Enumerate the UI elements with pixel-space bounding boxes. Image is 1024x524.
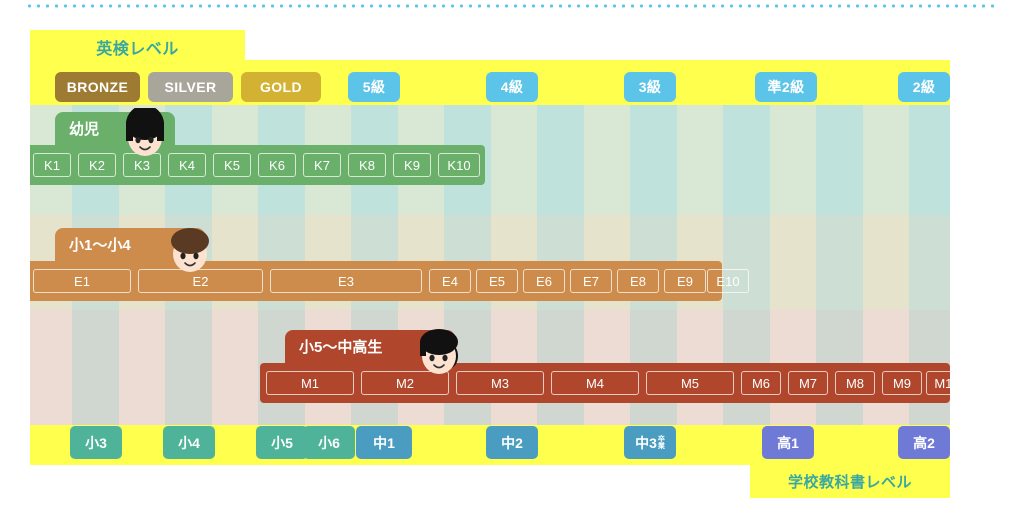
top-dotted-divider [25, 4, 1000, 8]
course-cell-label: M9 [893, 376, 911, 391]
eiken-pill-label: 5級 [363, 77, 386, 97]
course-cell-label: E8 [630, 274, 646, 289]
course-cell-middle-5[interactable]: M6 [741, 371, 781, 395]
course-cell-middle-8[interactable]: M9 [882, 371, 922, 395]
course-cell-label: M5 [681, 376, 699, 391]
course-cell-kinder-8[interactable]: K9 [393, 153, 431, 177]
course-cell-label: K5 [224, 158, 240, 173]
stripe-column [119, 310, 165, 425]
eiken-pill-label: 2級 [913, 77, 936, 97]
course-cell-label: E1 [74, 274, 90, 289]
eiken-pill-label: BRONZE [67, 79, 129, 95]
eiken-pill-1[interactable]: SILVER [148, 72, 233, 102]
course-cell-elementary-0[interactable]: E1 [33, 269, 131, 293]
course-cell-kinder-1[interactable]: K2 [78, 153, 116, 177]
course-cell-elementary-8[interactable]: E9 [664, 269, 706, 293]
course-cell-kinder-0[interactable]: K1 [33, 153, 71, 177]
eiken-pill-label: 3級 [639, 77, 662, 97]
course-cell-label: K1 [44, 158, 60, 173]
stripe-column [630, 105, 677, 215]
stripe-column [72, 310, 119, 425]
course-cell-label: K2 [89, 158, 105, 173]
school-grade-label: 中1 [373, 433, 395, 453]
course-cell-label: K7 [314, 158, 330, 173]
stripe-column [770, 105, 816, 215]
stripe-column [816, 105, 863, 215]
school-grade-pill-6[interactable]: 中3卒業 [624, 426, 676, 459]
course-tab-label: 小5〜中高生 [299, 336, 382, 357]
school-grade-label: 小4 [178, 433, 200, 453]
school-grade-label: 中2 [501, 433, 523, 453]
course-cell-middle-4[interactable]: M5 [646, 371, 734, 395]
course-cell-label: M3 [491, 376, 509, 391]
girl-ponytail-face [412, 326, 466, 378]
course-cell-label: M1 [301, 376, 319, 391]
course-cell-label: E5 [489, 274, 505, 289]
school-grade-pill-4[interactable]: 中1 [356, 426, 412, 459]
eiken-pill-0[interactable]: BRONZE [55, 72, 140, 102]
stripe-column [537, 105, 584, 215]
stripe-column [491, 105, 537, 215]
course-cell-elementary-3[interactable]: E4 [429, 269, 471, 293]
stripe-column [212, 310, 258, 425]
stripe-column [30, 310, 72, 425]
course-cell-middle-0[interactable]: M1 [266, 371, 354, 395]
course-cell-label: K9 [404, 158, 420, 173]
course-cell-kinder-9[interactable]: K10 [438, 153, 480, 177]
eiken-pill-5[interactable]: 3級 [624, 72, 676, 102]
course-cell-label: K8 [359, 158, 375, 173]
course-cell-middle-9[interactable]: M10 [926, 371, 968, 395]
stripe-column [770, 215, 816, 310]
course-cell-label: M10 [934, 376, 959, 391]
stripe-column [723, 105, 770, 215]
eiken-pill-4[interactable]: 4級 [486, 72, 538, 102]
course-cell-label: M8 [846, 376, 864, 391]
course-bar-kinder: K1K2K3K4K5K6K7K8K9K10 [30, 145, 485, 185]
eiken-pill-label: 準2級 [768, 77, 805, 97]
course-cell-kinder-6[interactable]: K7 [303, 153, 341, 177]
course-bar-middle: M1M2M3M4M5M6M7M8M9M10 [260, 363, 950, 403]
course-cell-middle-3[interactable]: M4 [551, 371, 639, 395]
course-cell-label: E3 [338, 274, 354, 289]
eiken-pill-label: 4級 [501, 77, 524, 97]
course-tab-label: 小1〜小4 [69, 234, 131, 255]
course-cell-elementary-9[interactable]: E10 [707, 269, 749, 293]
boy-short-hair-face [163, 224, 217, 276]
school-grade-label: 小6 [318, 433, 340, 453]
course-cell-label: K6 [269, 158, 285, 173]
school-grade-pill-1[interactable]: 小4 [163, 426, 215, 459]
stripe-column [816, 215, 863, 310]
course-cell-label: E9 [677, 274, 693, 289]
school-grade-pill-3[interactable]: 小6 [303, 426, 355, 459]
school-grade-label: 小3 [85, 433, 107, 453]
stripe-column [909, 105, 950, 215]
school-grade-label: 高2 [913, 433, 935, 453]
eiken-pill-7[interactable]: 2級 [898, 72, 950, 102]
school-grade-pill-0[interactable]: 小3 [70, 426, 122, 459]
stripe-column [863, 215, 909, 310]
course-cell-kinder-7[interactable]: K8 [348, 153, 386, 177]
stripe-column [723, 215, 770, 310]
stripe-column [863, 105, 909, 215]
school-grade-label: 小5 [271, 433, 293, 453]
course-cell-elementary-4[interactable]: E5 [476, 269, 518, 293]
course-cell-elementary-7[interactable]: E8 [617, 269, 659, 293]
eiken-pill-2[interactable]: GOLD [241, 72, 321, 102]
eiken-pill-label: SILVER [165, 79, 217, 95]
eiken-pill-6[interactable]: 準2級 [755, 72, 817, 102]
course-cell-label: M7 [799, 376, 817, 391]
eiken-pill-label: GOLD [260, 79, 302, 95]
stripe-column [584, 105, 630, 215]
course-cell-elementary-6[interactable]: E7 [570, 269, 612, 293]
school-grade-pill-7[interactable]: 高1 [762, 426, 814, 459]
course-cell-kinder-3[interactable]: K4 [168, 153, 206, 177]
eiken-pill-3[interactable]: 5級 [348, 72, 400, 102]
girl-bob-face [118, 108, 172, 160]
course-cell-label: M4 [586, 376, 604, 391]
course-cell-label: E7 [583, 274, 599, 289]
course-cell-elementary-5[interactable]: E6 [523, 269, 565, 293]
course-cell-label: M6 [752, 376, 770, 391]
course-cell-label: E10 [716, 274, 739, 289]
school-grade-pill-5[interactable]: 中2 [486, 426, 538, 459]
stripe-column [165, 310, 212, 425]
course-tab-label: 幼児 [69, 118, 99, 139]
school-textbook-title: 学校教科書レベル [750, 465, 950, 498]
school-grade-pill-8[interactable]: 高2 [898, 426, 950, 459]
course-cell-label: K10 [447, 158, 470, 173]
course-cell-label: E6 [536, 274, 552, 289]
course-cell-middle-2[interactable]: M3 [456, 371, 544, 395]
course-cell-kinder-5[interactable]: K6 [258, 153, 296, 177]
eiken-level-chart: 英検レベル BRONZESILVERGOLD5級4級3級準2級2級 幼児K1K2… [0, 0, 1024, 524]
course-cell-middle-6[interactable]: M7 [788, 371, 828, 395]
course-cell-label: E4 [442, 274, 458, 289]
eiken-header-notch [245, 30, 950, 60]
course-cell-kinder-4[interactable]: K5 [213, 153, 251, 177]
course-bar-elementary: E1E2E3E4E5E6E7E8E9E10 [30, 261, 722, 301]
school-grade-pill-2[interactable]: 小5 [256, 426, 308, 459]
eiken-level-title: 英検レベル [30, 33, 245, 61]
stripe-column [677, 105, 723, 215]
school-grade-ruby: 卒業 [658, 436, 665, 450]
school-grade-label: 中3 [635, 433, 657, 453]
course-cell-elementary-2[interactable]: E3 [270, 269, 422, 293]
stripe-column [909, 215, 950, 310]
course-cell-middle-7[interactable]: M8 [835, 371, 875, 395]
course-cell-label: K4 [179, 158, 195, 173]
school-grade-label: 高1 [777, 433, 799, 453]
